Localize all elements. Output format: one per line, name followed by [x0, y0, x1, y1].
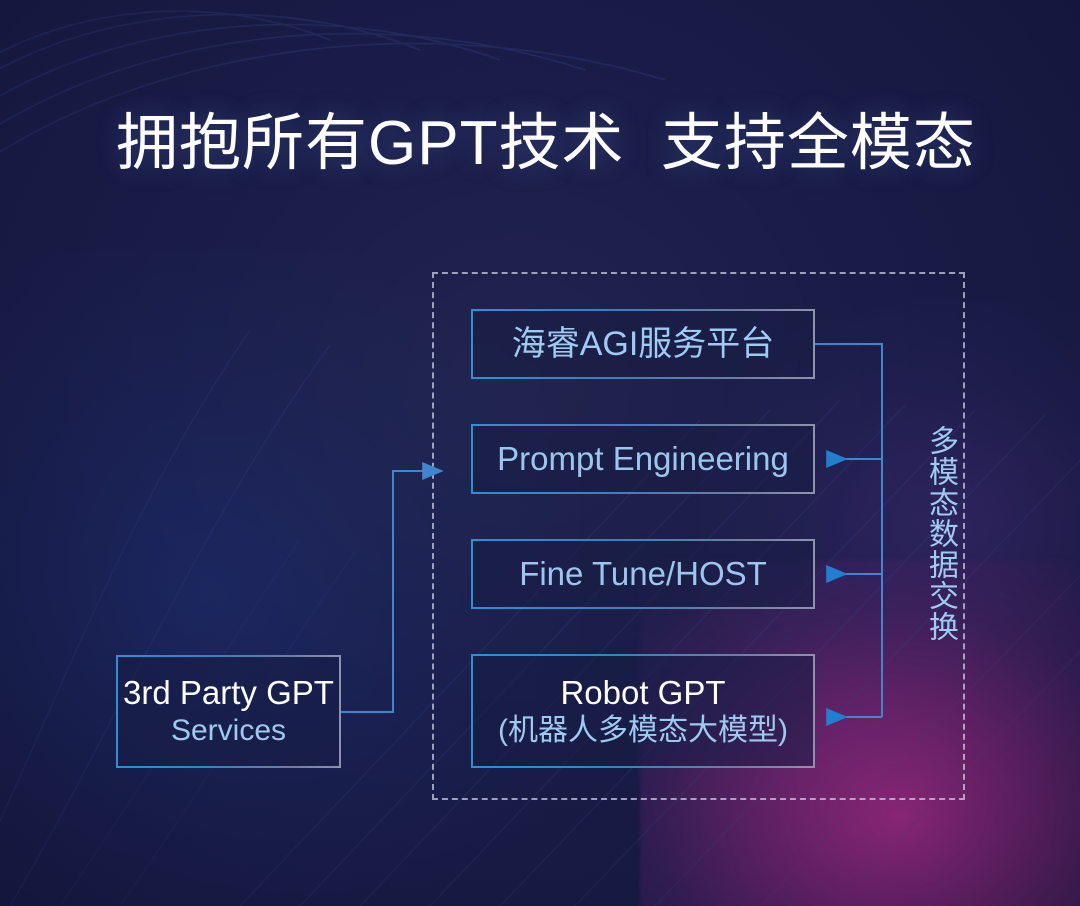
node-third-party-gpt[interactable]: 3rd Party GPT Services	[116, 655, 341, 768]
node-fine-tune-host[interactable]: Fine Tune/HOST	[471, 539, 815, 609]
node-third-party-gpt-subtitle: Services	[171, 713, 286, 750]
slide-canvas: 拥抱所有GPT技术 支持全模态 海睿AGI服务平台	[0, 0, 1080, 906]
node-robot-gpt[interactable]: Robot GPT (机器人多模态大模型)	[471, 654, 815, 768]
node-robot-gpt-title: Robot GPT	[560, 673, 725, 713]
node-prompt-engineering-label: Prompt Engineering	[497, 439, 789, 479]
page-title: 拥抱所有GPT技术 支持全模态	[116, 108, 976, 180]
node-agi-platform[interactable]: 海睿AGI服务平台	[471, 309, 815, 379]
node-robot-gpt-subtitle: (机器人多模态大模型)	[498, 713, 788, 750]
node-prompt-engineering[interactable]: Prompt Engineering	[471, 424, 815, 494]
node-third-party-gpt-title: 3rd Party GPT	[123, 673, 334, 713]
side-label-multimodal-exchange: 多模态数据交换	[912, 425, 956, 642]
node-fine-tune-host-label: Fine Tune/HOST	[519, 554, 767, 594]
node-agi-platform-label: 海睿AGI服务平台	[512, 324, 775, 365]
